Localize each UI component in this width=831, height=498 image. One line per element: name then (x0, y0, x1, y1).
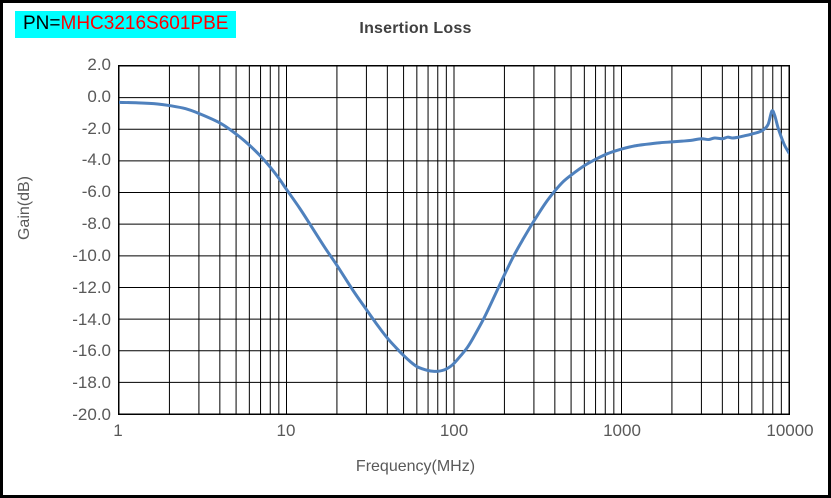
y-tick-label: -6.0 (82, 182, 111, 202)
x-axis-title: Frequency(MHz) (3, 458, 828, 476)
y-tick-label: 2.0 (87, 55, 111, 75)
y-tick-label: -18.0 (72, 373, 111, 393)
y-tick-label: -4.0 (82, 150, 111, 170)
y-tick-label: -14.0 (72, 310, 111, 330)
y-tick-label: -8.0 (82, 214, 111, 234)
y-axis-tick-labels: 2.00.0-2.0-4.0-6.0-8.0-10.0-12.0-14.0-16… (29, 65, 111, 415)
y-axis-title: Gain(dB) (16, 138, 34, 278)
y-tick-label: -12.0 (72, 278, 111, 298)
grid-minor-lines (169, 66, 781, 414)
plot-area (118, 65, 790, 415)
x-tick-label: 100 (440, 421, 468, 441)
y-tick-label: -20.0 (72, 405, 111, 425)
y-tick-label: 0.0 (87, 87, 111, 107)
y-tick-label: -16.0 (72, 341, 111, 361)
y-tick-label: -10.0 (72, 246, 111, 266)
insertion-loss-figure: PN=MHC3216S601PBE Insertion Loss 2.00.0-… (0, 0, 831, 498)
x-tick-label: 10 (277, 421, 296, 441)
x-tick-label: 10000 (766, 421, 813, 441)
x-axis-tick-labels: 110100100010000 (118, 421, 790, 447)
y-tick-label: -2.0 (82, 119, 111, 139)
x-tick-label: 1 (113, 421, 122, 441)
plot-svg (119, 66, 789, 414)
chart-title: Insertion Loss (3, 20, 828, 38)
x-tick-label: 1000 (603, 421, 641, 441)
